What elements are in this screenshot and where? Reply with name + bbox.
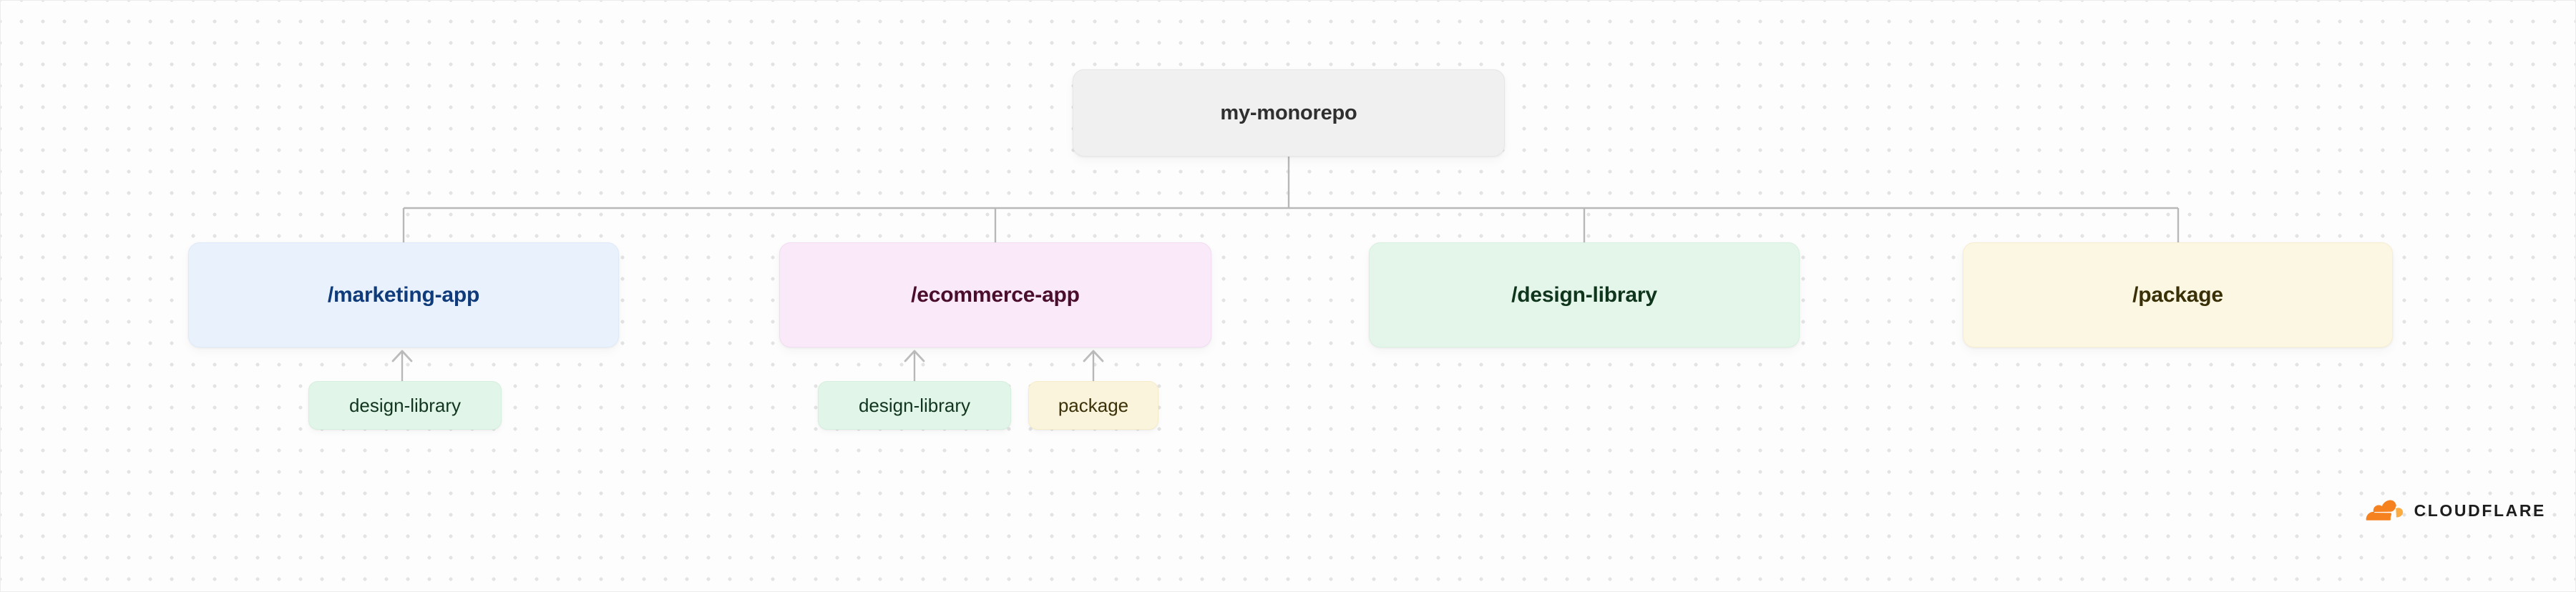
- dependency-chip-label: design-library: [349, 395, 461, 417]
- cloudflare-logo: CLOUDFLARE: [2366, 493, 2546, 528]
- dependency-chip-label: design-library: [859, 395, 970, 417]
- dependency-chip-ecommerce-design-library[interactable]: design-library: [818, 381, 1011, 430]
- cloudflare-wordmark: CLOUDFLARE: [2414, 503, 2546, 519]
- node-label-package: /package: [2132, 283, 2223, 307]
- arrowhead-ecommerce-design: [905, 351, 924, 361]
- dependency-chip-ecommerce-package[interactable]: package: [1028, 381, 1158, 430]
- arrowhead-ecommerce-package: [1084, 351, 1103, 361]
- node-my-monorepo[interactable]: my-monorepo: [1073, 69, 1505, 157]
- dependency-chip-label: package: [1058, 395, 1128, 417]
- node-marketing-app[interactable]: /marketing-app: [188, 242, 619, 347]
- diagram-canvas: my-monorepo /marketing-app /ecommerce-ap…: [0, 0, 2576, 592]
- node-design-library[interactable]: /design-library: [1369, 242, 1800, 347]
- node-label-design-library: /design-library: [1511, 283, 1657, 307]
- cloudflare-cloud-icon: [2366, 496, 2404, 525]
- dependency-chip-marketing-design-library[interactable]: design-library: [308, 381, 502, 430]
- node-package[interactable]: /package: [1963, 242, 2393, 347]
- node-ecommerce-app[interactable]: /ecommerce-app: [779, 242, 1211, 347]
- node-label-marketing-app: /marketing-app: [328, 283, 479, 307]
- node-label-root: my-monorepo: [1220, 102, 1357, 125]
- node-label-ecommerce-app: /ecommerce-app: [911, 283, 1080, 307]
- arrowhead-marketing-design: [393, 351, 411, 361]
